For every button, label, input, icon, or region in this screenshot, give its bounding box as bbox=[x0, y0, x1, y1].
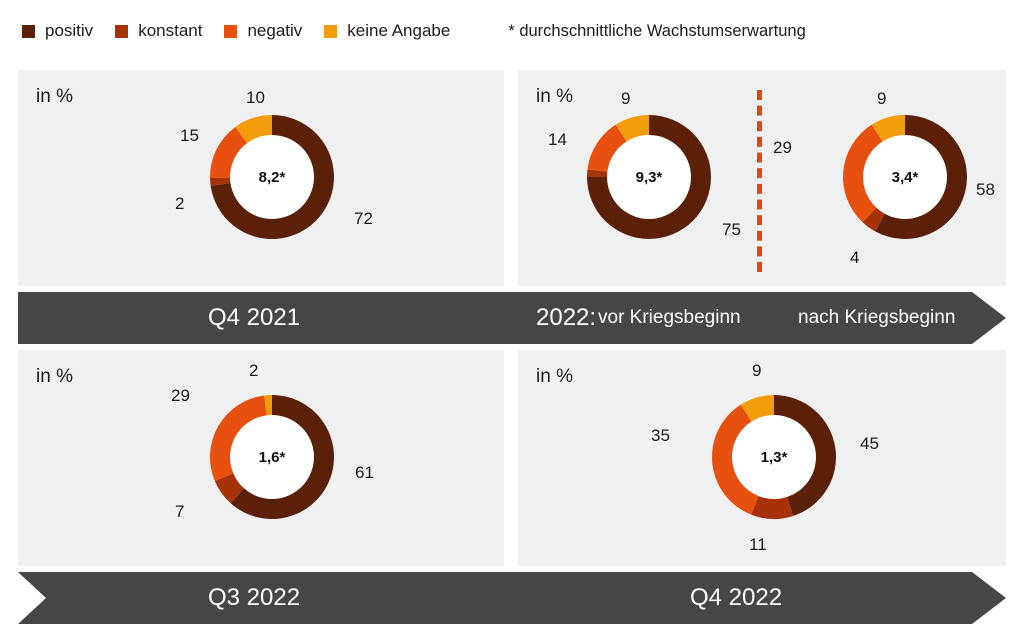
callout-2022-vor-positiv: 75 bbox=[722, 220, 741, 240]
legend-swatch-positiv bbox=[22, 25, 35, 38]
callout-divider-29: 29 bbox=[773, 138, 792, 158]
panel-2022: in % 9,3* 75 14 9 29 3,4* 58 4 9 bbox=[518, 70, 1006, 286]
banner-label-q3-2022: Q3 2022 bbox=[208, 584, 300, 612]
callout-q4-2022-konstant: 11 bbox=[749, 535, 767, 555]
donut-2022-nach-kriegsbeginn: 3,4* bbox=[842, 114, 968, 240]
banner-label-nach-kriegsbeginn: nach Kriegsbeginn bbox=[798, 307, 955, 329]
donut-svg-2022-vor-kriegsbeginn bbox=[586, 114, 712, 240]
legend-label-negativ: negativ bbox=[247, 21, 302, 41]
donut-svg-q4-2021 bbox=[209, 114, 335, 240]
callout-q3-2022-negativ: 29 bbox=[171, 386, 190, 406]
donut-q3-2022: 1,6* bbox=[209, 394, 335, 520]
legend-swatch-keine-angabe bbox=[324, 25, 337, 38]
callout-2022-nach-keine-angabe: 9 bbox=[877, 89, 886, 109]
panel-q4-2021: in % 8,2* 72 2 15 10 bbox=[18, 70, 504, 286]
unit-label-q4-2022: in % bbox=[536, 366, 573, 388]
timeline-banner-bottom: Q3 2022 Q4 2022 bbox=[18, 572, 1006, 624]
panel-q4-2022: in % 1,3* 45 11 35 9 bbox=[518, 350, 1006, 566]
legend-item-keine-angabe: keine Angabe bbox=[324, 21, 450, 41]
callout-2022-nach-konstant: 4 bbox=[850, 248, 859, 268]
callout-2022-vor-keine-angabe: 9 bbox=[621, 89, 630, 109]
war-divider-dashed-line bbox=[757, 90, 762, 272]
legend-item-negativ: negativ bbox=[224, 21, 302, 41]
callout-q4-2021-positiv: 72 bbox=[354, 209, 373, 229]
legend-footnote: * durchschnittliche Wachstumserwartung bbox=[508, 22, 805, 41]
callout-q3-2022-positiv: 61 bbox=[355, 463, 374, 483]
callout-2022-nach-positiv: 58 bbox=[976, 180, 995, 200]
donut-svg-q3-2022 bbox=[209, 394, 335, 520]
donut-2022-vor-kriegsbeginn: 9,3* bbox=[586, 114, 712, 240]
banner-label-vor-kriegsbeginn: vor Kriegsbeginn bbox=[598, 307, 741, 329]
callout-q4-2021-negativ: 15 bbox=[180, 126, 199, 146]
legend-swatch-konstant bbox=[115, 25, 128, 38]
unit-label-2022: in % bbox=[536, 86, 573, 108]
timeline-banner-top: Q4 2021 2022: vor Kriegsbeginn nach Krie… bbox=[18, 292, 1006, 344]
legend: positiv konstant negativ keine Angabe * … bbox=[0, 0, 1024, 62]
legend-label-positiv: positiv bbox=[45, 21, 93, 41]
callout-q3-2022-keine-angabe: 2 bbox=[249, 361, 258, 381]
callout-q4-2022-positiv: 45 bbox=[860, 434, 879, 454]
legend-label-konstant: konstant bbox=[138, 21, 202, 41]
legend-swatch-negativ bbox=[224, 25, 237, 38]
callout-2022-vor-negativ: 14 bbox=[548, 130, 567, 150]
panel-q3-2022: in % 1,6* 61 7 29 2 bbox=[18, 350, 504, 566]
legend-item-konstant: konstant bbox=[115, 21, 202, 41]
donut-svg-q4-2022 bbox=[711, 394, 837, 520]
unit-label-q4-2021: in % bbox=[36, 86, 73, 108]
callout-q4-2022-keine-angabe: 9 bbox=[752, 361, 761, 381]
callout-q4-2021-keine-angabe: 10 bbox=[246, 88, 265, 108]
banner-label-q4-2022: Q4 2022 bbox=[690, 584, 782, 612]
banner-label-2022: 2022: bbox=[536, 304, 596, 332]
callout-q3-2022-konstant: 7 bbox=[175, 502, 184, 522]
donut-svg-2022-nach-kriegsbeginn bbox=[842, 114, 968, 240]
legend-label-keine-angabe: keine Angabe bbox=[347, 21, 450, 41]
callout-q4-2022-negativ: 35 bbox=[651, 426, 670, 446]
callout-q4-2021-konstant: 2 bbox=[175, 194, 184, 214]
legend-item-positiv: positiv bbox=[22, 21, 93, 41]
unit-label-q3-2022: in % bbox=[36, 366, 73, 388]
donut-slice-konstant bbox=[751, 496, 793, 519]
donut-q4-2022: 1,3* bbox=[711, 394, 837, 520]
banner-label-q4-2021: Q4 2021 bbox=[208, 304, 300, 332]
donut-q4-2021: 8,2* bbox=[209, 114, 335, 240]
